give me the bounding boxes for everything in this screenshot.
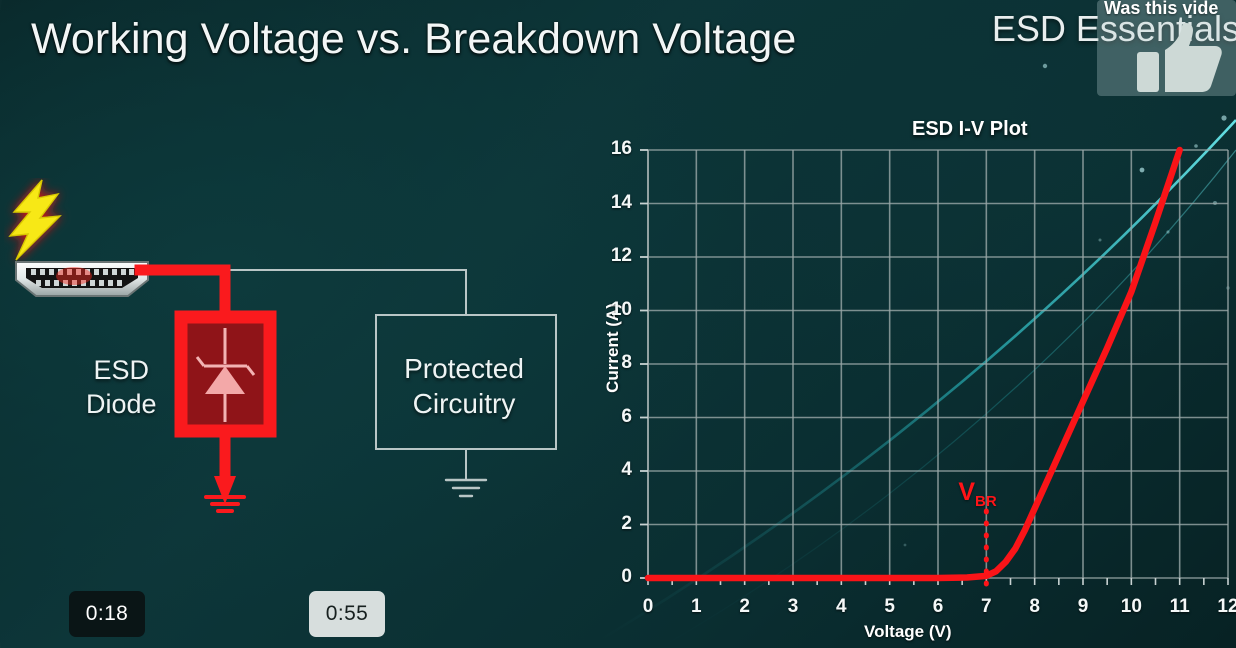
protected-label-line2: Circuitry <box>413 388 516 419</box>
breakdown-voltage-annotation: VBR <box>958 478 996 510</box>
esd-diode-label-line2: Diode <box>86 389 157 419</box>
thumbs-up-icon[interactable] <box>1135 22 1223 94</box>
chart-plot-area <box>582 108 1236 648</box>
protected-label-line1: Protected <box>404 353 524 384</box>
circuit-diagram: ESD Diode Protected Circuitry <box>0 180 600 560</box>
esd-iv-chart: ESD I-V Plot Current (A) Voltage (V) 024… <box>582 108 1236 648</box>
timestamp-current[interactable]: 0:18 <box>69 591 145 637</box>
esd-diode-label-line1: ESD <box>94 355 150 385</box>
esd-diode-label: ESD Diode <box>86 354 157 422</box>
breakdown-voltage-subscript: BR <box>975 493 997 510</box>
breakdown-voltage-symbol: V <box>958 478 975 506</box>
protected-circuitry-label: Protected Circuitry <box>374 351 554 421</box>
slide-title: Working Voltage vs. Breakdown Voltage <box>31 15 796 64</box>
timestamp-total[interactable]: 0:55 <box>309 591 385 637</box>
like-prompt-caption: Was this vide <box>1104 0 1236 19</box>
